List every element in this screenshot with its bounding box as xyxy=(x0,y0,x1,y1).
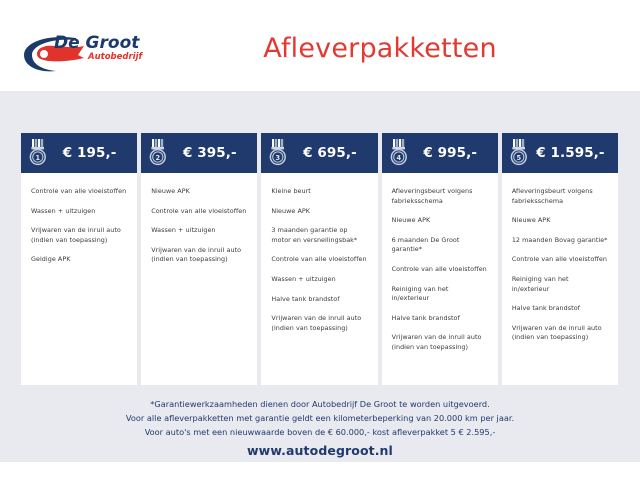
medal-icon: 5 xyxy=(508,138,530,168)
feature-item: Controle van alle vloeistoffen xyxy=(151,207,247,217)
page-header: De Groot Autobedrijf Afleverpakketten xyxy=(0,0,640,91)
package-number: 1 xyxy=(36,154,41,162)
feature-item: Kleine beurt xyxy=(271,187,367,197)
feature-item: 6 maanden De Groot garantie* xyxy=(392,236,488,255)
feature-item: Nieuwe APK xyxy=(392,216,488,226)
feature-item: Geldige APK xyxy=(31,255,127,265)
package-price: € 695,- xyxy=(289,145,370,161)
package-features: Nieuwe APK Controle van alle vloeistoffe… xyxy=(141,173,257,385)
feature-item: Halve tank brandstof xyxy=(271,295,367,305)
package-header: 4 € 995,- xyxy=(382,133,498,173)
content-panel: 1 € 195,- Controle van alle vloeistoffen… xyxy=(0,91,640,462)
feature-item: 12 maanden Bovag garantie* xyxy=(512,236,608,246)
feature-item: Controle van alle vloeistoffen xyxy=(512,255,608,265)
medal-icon: 4 xyxy=(388,138,410,168)
package-header: 1 € 195,- xyxy=(21,133,137,173)
medal-icon: 2 xyxy=(147,138,169,168)
afleverpakketten-page: De Groot Autobedrijf Afleverpakketten xyxy=(0,0,640,480)
footnote-line: Voor alle afleverpakketten met garantie … xyxy=(0,411,640,425)
package-header: 3 € 695,- xyxy=(261,133,377,173)
page-title: Afleverpakketten xyxy=(0,33,640,64)
package-number: 4 xyxy=(396,154,401,162)
package-number: 3 xyxy=(276,154,281,162)
feature-item: Vrijwaren van de inruil auto (indien van… xyxy=(31,226,127,245)
feature-item: Vrijwaren van de inruil auto (indien van… xyxy=(392,333,488,352)
feature-item: Vrijwaren van de inruil auto (indien van… xyxy=(512,324,608,343)
medal-icon: 3 xyxy=(267,138,289,168)
feature-item: Wassen + uitzuigen xyxy=(271,275,367,285)
package-features: Afleveringsbeurt volgens fabrieksschema … xyxy=(502,173,618,385)
feature-item: Controle van alle vloeistoffen xyxy=(271,255,367,265)
package-card[interactable]: 5 € 1.595,- Afleveringsbeurt volgens fab… xyxy=(502,133,618,385)
feature-item: Controle van alle vloeistoffen xyxy=(392,265,488,275)
package-features: Kleine beurt Nieuwe APK 3 maanden garant… xyxy=(261,173,377,385)
package-header: 5 € 1.595,- xyxy=(502,133,618,173)
package-card[interactable]: 2 € 395,- Nieuwe APK Controle van alle v… xyxy=(141,133,257,385)
feature-item: Nieuwe APK xyxy=(271,207,367,217)
feature-item: 3 maanden garantie op motor en versnelli… xyxy=(271,226,367,245)
feature-item: Halve tank brandstof xyxy=(392,314,488,324)
medal-icon: 1 xyxy=(27,138,49,168)
package-card[interactable]: 4 € 995,- Afleveringsbeurt volgens fabri… xyxy=(382,133,498,385)
footnotes: *Garantiewerkzaamheden dienen door Autob… xyxy=(0,397,640,439)
package-price: € 195,- xyxy=(49,145,130,161)
feature-item: Vrijwaren van de inruil auto (indien van… xyxy=(271,314,367,333)
feature-item: Nieuwe APK xyxy=(151,187,247,197)
package-price: € 995,- xyxy=(410,145,491,161)
package-card[interactable]: 1 € 195,- Controle van alle vloeistoffen… xyxy=(21,133,137,385)
package-number: 5 xyxy=(516,154,521,162)
package-features: Controle van alle vloeistoffen Wassen + … xyxy=(21,173,137,385)
feature-item: Afleveringsbeurt volgens fabrieksschema xyxy=(512,187,608,206)
feature-item: Controle van alle vloeistoffen xyxy=(31,187,127,197)
feature-item: Afleveringsbeurt volgens fabrieksschema xyxy=(392,187,488,206)
package-card[interactable]: 3 € 695,- Kleine beurt Nieuwe APK 3 maan… xyxy=(261,133,377,385)
package-cards: 1 € 195,- Controle van alle vloeistoffen… xyxy=(21,133,618,385)
footnote-line: *Garantiewerkzaamheden dienen door Autob… xyxy=(0,397,640,411)
footnote-line: Voor auto's met een nieuwwaarde boven de… xyxy=(0,425,640,439)
package-header: 2 € 395,- xyxy=(141,133,257,173)
package-number: 2 xyxy=(156,154,161,162)
feature-item: Halve tank brandstof xyxy=(512,304,608,314)
website-link[interactable]: www.autodegroot.nl xyxy=(0,443,640,458)
feature-item: Wassen + uitzuigen xyxy=(31,207,127,217)
feature-item: Vrijwaren van de inruil auto (indien van… xyxy=(151,246,247,265)
package-price: € 1.595,- xyxy=(530,145,611,161)
package-price: € 395,- xyxy=(169,145,250,161)
feature-item: Wassen + uitzuigen xyxy=(151,226,247,236)
package-features: Afleveringsbeurt volgens fabrieksschema … xyxy=(382,173,498,385)
feature-item: Nieuwe APK xyxy=(512,216,608,226)
feature-item: Reiniging van het in/exterieur xyxy=(512,275,608,294)
feature-item: Reiniging van het in/exterieur xyxy=(392,285,488,304)
